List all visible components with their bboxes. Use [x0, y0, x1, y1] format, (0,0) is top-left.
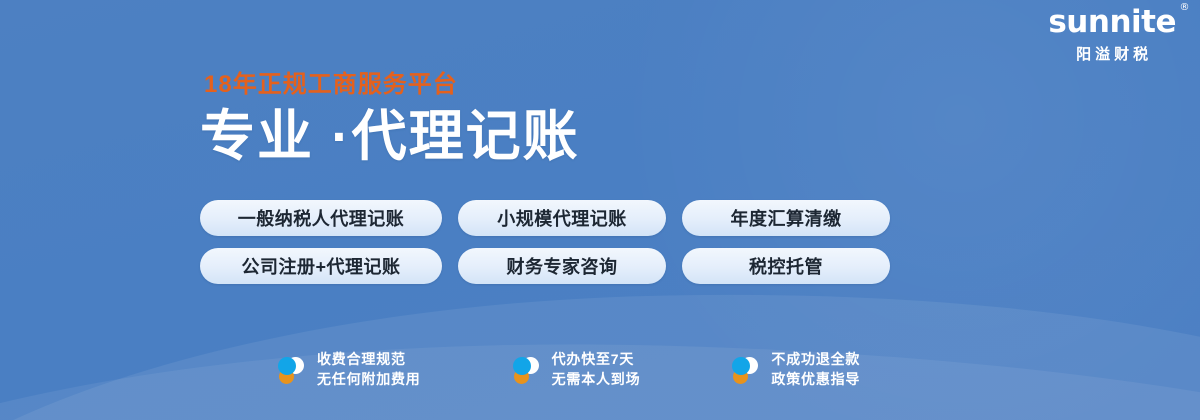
feature-line-2: 无需本人到场: [552, 371, 641, 387]
hero-copy: 18年正规工商服务平台 专业 ·代理记账: [200, 72, 580, 169]
dots-badge-blue-dot: [278, 357, 296, 375]
brand-wordmark-text: sunnite: [1048, 4, 1176, 40]
feature-item-pricing: 收费合理规范 无任何附加费用: [276, 350, 421, 390]
feature-text-guarantee: 不成功退全款 政策优惠指导: [771, 350, 860, 390]
service-pill-annual-settlement[interactable]: 年度汇算清缴: [682, 200, 890, 236]
service-pill-general-taxpayer[interactable]: 一般纳税人代理记账: [200, 200, 442, 236]
service-pill-expert-consulting[interactable]: 财务专家咨询: [458, 248, 666, 284]
service-pill-tax-control-hosting[interactable]: 税控托管: [682, 248, 890, 284]
brand-logo[interactable]: sunnite ® 阳溢财税: [1048, 6, 1176, 64]
dots-badge-icon: [511, 355, 541, 385]
dots-badge-icon: [276, 355, 306, 385]
feature-line-2: 政策优惠指导: [771, 371, 860, 387]
service-pill-small-scale[interactable]: 小规模代理记账: [458, 200, 666, 236]
dots-badge-icon: [730, 355, 760, 385]
service-pill-company-registration[interactable]: 公司注册+代理记账: [200, 248, 442, 284]
service-pill-grid: 一般纳税人代理记账 小规模代理记账 年度汇算清缴 公司注册+代理记账 财务专家咨…: [200, 200, 890, 284]
background-wave-upper: [0, 273, 1200, 420]
feature-line-1: 收费合理规范: [317, 351, 406, 367]
promo-banner: sunnite ® 阳溢财税 18年正规工商服务平台 专业 ·代理记账 一般纳税…: [0, 0, 1200, 420]
feature-strip: 收费合理规范 无任何附加费用 代办快至7天 无需本人到场 不成功退全款: [276, 350, 860, 390]
feature-item-guarantee: 不成功退全款 政策优惠指导: [730, 350, 860, 390]
hero-eyebrow: 18年正规工商服务平台: [204, 72, 580, 98]
hero-headline: 专业 ·代理记账: [200, 104, 580, 169]
brand-subtitle: 阳溢财税: [1048, 43, 1176, 64]
feature-item-speed: 代办快至7天 无需本人到场: [511, 350, 641, 390]
feature-text-speed: 代办快至7天 无需本人到场: [552, 350, 641, 390]
brand-wordmark: sunnite ®: [1048, 6, 1176, 39]
feature-line-1: 代办快至7天: [552, 351, 635, 367]
feature-line-2: 无任何附加费用: [317, 371, 421, 387]
dots-badge-blue-dot: [513, 357, 531, 375]
registered-trademark-icon: ®: [1180, 3, 1190, 13]
feature-text-pricing: 收费合理规范 无任何附加费用: [317, 350, 421, 390]
feature-line-1: 不成功退全款: [771, 351, 860, 367]
